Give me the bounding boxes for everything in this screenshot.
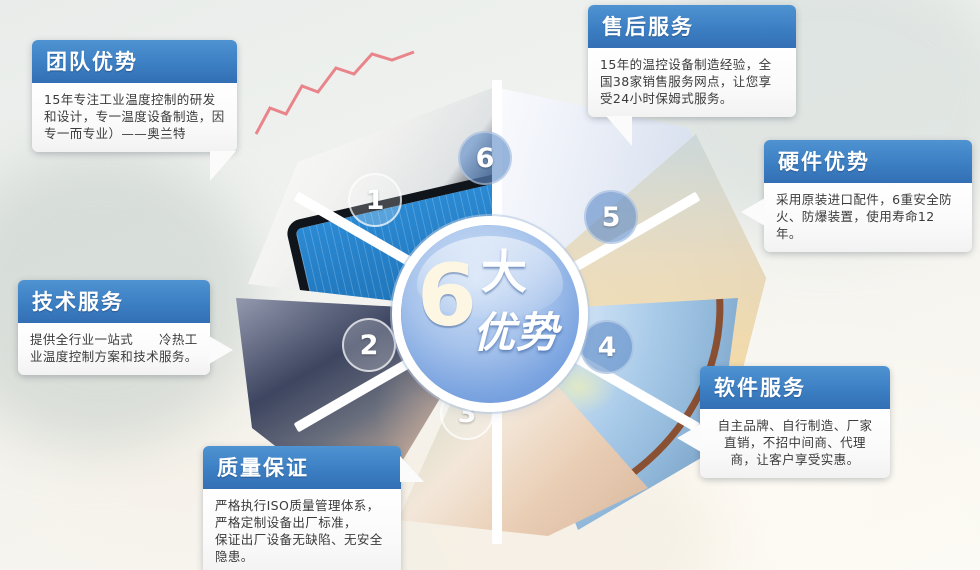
callout-after-sales-tail bbox=[606, 116, 632, 146]
callout-quality[interactable]: 质量保证 严格执行ISO质量管理体系，严格定制设备出厂标准， 保证出厂设备无缺陷… bbox=[203, 446, 401, 570]
callout-hardware-body: 采用原装进口配件，6重安全防火、防爆装置，使用寿命12年。 bbox=[764, 183, 972, 252]
callout-team[interactable]: 团队优势 15年专注工业温度控制的研发和设计，专一温度设备制造，因专一而专业）—… bbox=[32, 40, 237, 152]
segment-badge-2[interactable]: 2 bbox=[342, 318, 396, 372]
center-hub[interactable]: 6 大 优势 bbox=[401, 225, 579, 403]
callout-after-sales-body: 15年的温控设备制造经验，全国38家销售服务网点，让您享受24小时保姆式服务。 bbox=[588, 48, 796, 117]
infographic-canvas: 1 6 5 4 3 2 6 大 优势 团队优势 15年专注工业温度控制的研发和设… bbox=[0, 0, 980, 570]
callout-technical[interactable]: 技术服务 提供全行业一站式 冷热工业温度控制方案和技术服务。 bbox=[18, 280, 210, 375]
segment-badge-5[interactable]: 5 bbox=[584, 190, 638, 244]
callout-team-tail bbox=[210, 151, 236, 181]
callout-technical-body: 提供全行业一站式 冷热工业温度控制方案和技术服务。 bbox=[18, 323, 210, 375]
callout-software-tail bbox=[677, 424, 701, 452]
callout-hardware-tail bbox=[741, 198, 765, 226]
callout-software-title: 软件服务 bbox=[700, 366, 890, 409]
callout-software-body: 自主品牌、自行制造、厂家直销，不招中间商、代理商，让客户享受实惠。 bbox=[700, 409, 890, 478]
callout-quality-tail bbox=[400, 456, 424, 482]
callout-technical-tail bbox=[209, 336, 233, 364]
callout-quality-body: 严格执行ISO质量管理体系，严格定制设备出厂标准， 保证出厂设备无缺陷、无安全隐… bbox=[203, 489, 401, 570]
callout-team-title: 团队优势 bbox=[32, 40, 237, 83]
red-trend-line-decoration bbox=[252, 48, 432, 138]
segment-badge-1[interactable]: 1 bbox=[348, 173, 402, 227]
callout-after-sales-title: 售后服务 bbox=[588, 5, 796, 48]
callout-after-sales[interactable]: 售后服务 15年的温控设备制造经验，全国38家销售服务网点，让您享受24小时保姆… bbox=[588, 5, 796, 117]
callout-hardware[interactable]: 硬件优势 采用原装进口配件，6重安全防火、防爆装置，使用寿命12年。 bbox=[764, 140, 972, 252]
hub-unit-label: 大 bbox=[481, 249, 527, 295]
callout-quality-title: 质量保证 bbox=[203, 446, 401, 489]
callout-technical-title: 技术服务 bbox=[18, 280, 210, 323]
hub-advantage-label: 优势 bbox=[473, 311, 559, 355]
callout-team-body: 15年专注工业温度控制的研发和设计，专一温度设备制造，因专一而专业）——奥兰特 bbox=[32, 83, 237, 152]
callout-software[interactable]: 软件服务 自主品牌、自行制造、厂家直销，不招中间商、代理商，让客户享受实惠。 bbox=[700, 366, 890, 478]
segment-badge-6[interactable]: 6 bbox=[458, 131, 512, 185]
callout-hardware-title: 硬件优势 bbox=[764, 140, 972, 183]
segment-badge-4[interactable]: 4 bbox=[580, 320, 634, 374]
hub-number: 6 bbox=[417, 253, 477, 339]
